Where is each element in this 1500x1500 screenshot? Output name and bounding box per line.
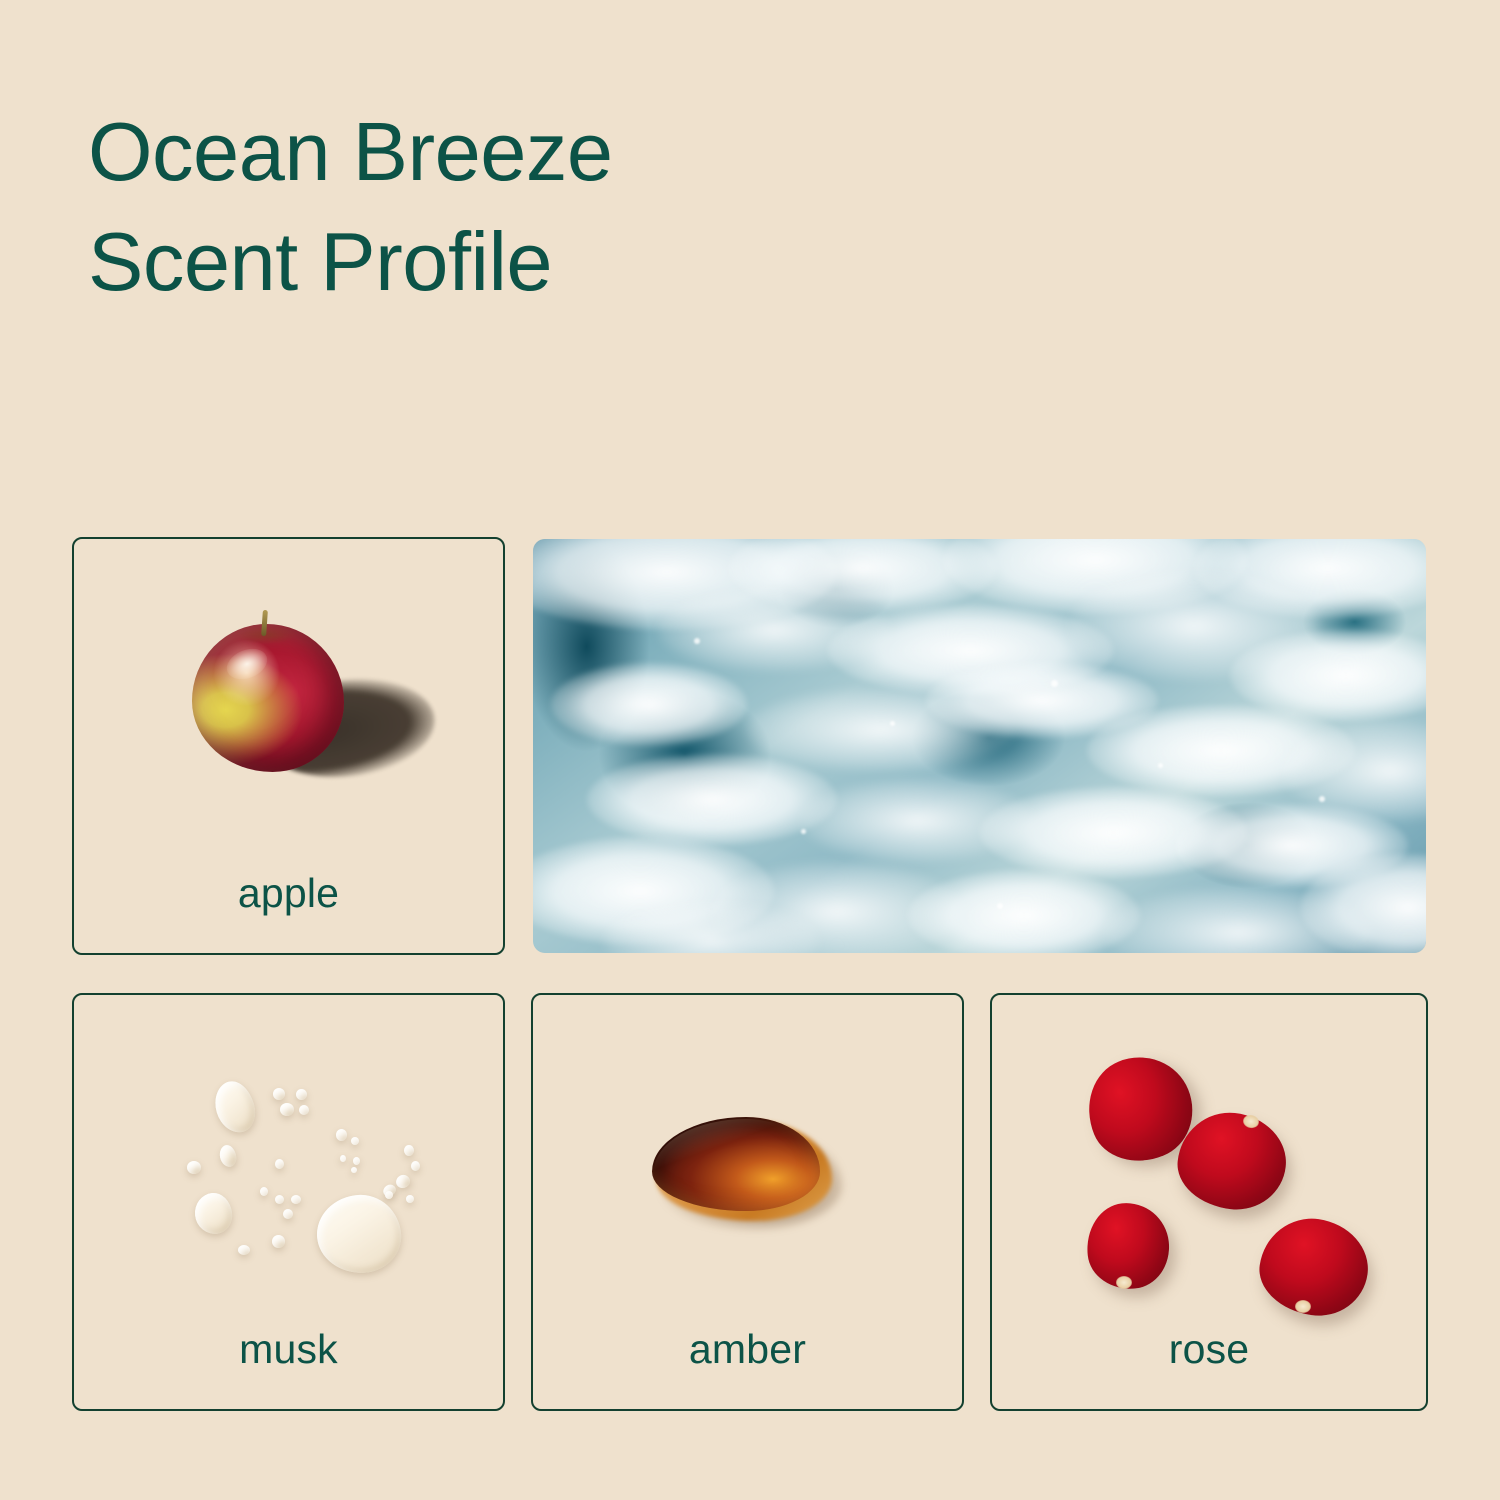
ocean-water-photo xyxy=(533,539,1426,953)
card-label-rose: rose xyxy=(992,1326,1426,1373)
scent-note-grid: apple xyxy=(72,537,1428,1411)
card-label-apple: apple xyxy=(74,870,503,917)
card-label-musk: musk xyxy=(74,1326,503,1373)
scent-card-amber[interactable]: amber xyxy=(531,993,964,1411)
hero-image-ocean[interactable] xyxy=(531,537,1428,955)
apple-illustration xyxy=(174,596,404,826)
amber-stone-illustration xyxy=(648,1115,848,1235)
scent-card-musk[interactable]: musk xyxy=(72,993,505,1411)
apple-body xyxy=(192,624,344,772)
card-label-amber: amber xyxy=(533,1326,962,1373)
scent-card-rose[interactable]: rose xyxy=(990,993,1428,1411)
page-title: Ocean Breeze Scent Profile xyxy=(88,97,988,318)
scent-card-apple[interactable]: apple xyxy=(72,537,505,955)
